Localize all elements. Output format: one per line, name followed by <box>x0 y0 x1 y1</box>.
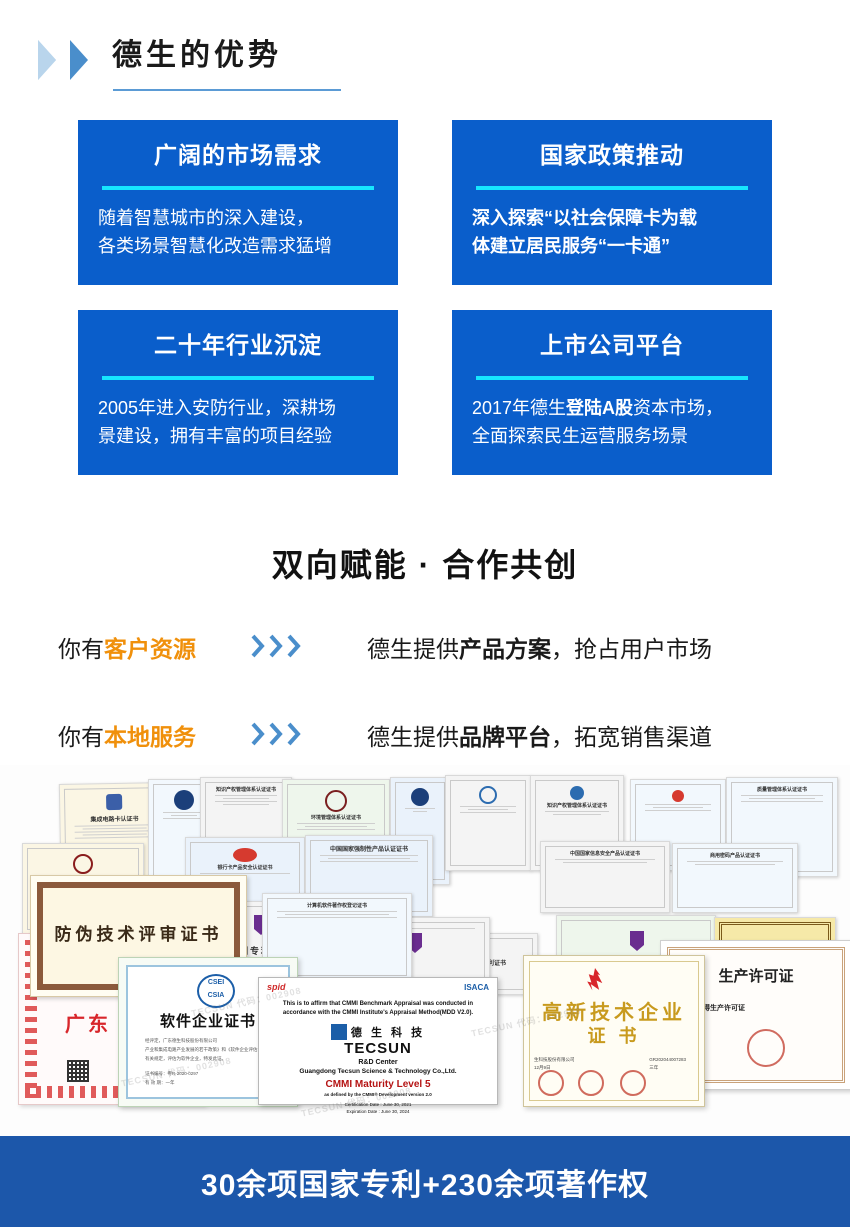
certificate-line: 有关规定，评估为软件企业，特发此证。 <box>145 1054 258 1063</box>
certificate-title: 质量管理体系认证证书 <box>735 786 829 793</box>
company-name-cn: 德 生 科 技 <box>351 1024 425 1040</box>
card-divider <box>476 376 748 380</box>
empower-left-text: 你有客户资源 <box>58 630 196 668</box>
certificate-thumb: 中国国家信息安全产品认证证书 <box>540 841 670 913</box>
cmmi-level: CMMI Maturity Level 5 <box>267 1079 489 1090</box>
certificate-title: 商用密码产品认证证书 <box>681 852 789 859</box>
certificate-hitech-enterprise: 高新技术企业 证 书 生科技股份有限公司 12月9日 GR20204400728… <box>523 955 705 1107</box>
certificate-collage: 集成电路卡认证书 知识产权管理体系认证证书 环境管理体系认证证书 <box>0 765 850 1137</box>
cmmi-affirm-line-2: accordance with the CMMI Institute's App… <box>267 1009 489 1018</box>
empower-right-bold: 产品方案 <box>459 636 551 662</box>
advantage-card-market: 广阔的市场需求 随着智慧城市的深入建设， 各类场景智慧化改造需求猛增 <box>78 120 398 285</box>
page-root: 德生的优势 广阔的市场需求 随着智慧城市的深入建设， 各类场景智慧化改造需求猛增… <box>0 0 850 1227</box>
certificate-title: 知识产权管理体系认证证书 <box>209 786 283 793</box>
empower-right-text: 德生提供品牌平台，拓宽销售渠道 <box>367 718 712 756</box>
footer-banner: 30余项国家专利+230余项著作权 <box>0 1136 850 1227</box>
card-body-line-2: 体建立居民服务“一卡通” <box>472 232 752 260</box>
title-underline <box>113 89 341 91</box>
cmmi-certification-date: Certification Date : June 30, 2021 <box>267 1101 489 1108</box>
csei-badge-icon: CSEI CSIA <box>197 974 235 1008</box>
certificate-line: 经评定，广东德生科技股份有限公司 <box>145 1036 258 1045</box>
empower-left-highlight: 客户资源 <box>104 636 196 662</box>
certificate-title: 计算机软件著作权登记证书 <box>271 902 403 909</box>
card-body-line-2: 景建设，拥有丰富的项目经验 <box>98 422 378 450</box>
isaca-logo: ISACA <box>464 983 489 992</box>
empower-right-bold: 品牌平台 <box>459 724 551 750</box>
page-title: 德生的优势 <box>112 32 282 80</box>
certificate-valid: 有 效 期：一年 <box>145 1078 258 1087</box>
card-body: 深入探索“以社会保障卡为载 体建立居民服务“一卡通” <box>472 204 752 260</box>
certificate-title: 防伪技术评审证书 <box>31 920 246 945</box>
card-divider <box>476 186 748 190</box>
empower-left-highlight: 本地服务 <box>104 724 196 750</box>
certificate-title: 中国国家强制性产品认证证书 <box>314 844 424 853</box>
chevron-right-icon <box>36 38 64 82</box>
card-title: 国家政策推动 <box>472 138 752 172</box>
arrow-group-icon <box>250 632 302 660</box>
empower-left-text: 你有本地服务 <box>58 718 196 756</box>
empower-row-list: 你有客户资源 德生提供产品方案，抢占用户市场 你有本地服务 德生提供品牌平台，拓… <box>0 630 850 776</box>
advantage-card-policy: 国家政策推动 深入探索“以社会保障卡为载 体建立居民服务“一卡通” <box>452 120 772 285</box>
card-body-line-1: 深入探索“以社会保障卡为载 <box>472 204 752 232</box>
card-divider <box>102 186 374 190</box>
empower-left-prefix: 你有 <box>58 636 104 662</box>
company-name-en: TECSUN <box>267 1041 489 1056</box>
certificate-title: 中国国家信息安全产品认证证书 <box>549 850 661 857</box>
empower-section-title: 双向赋能 · 合作共创 <box>0 540 850 586</box>
chevron-right-icon <box>250 632 266 660</box>
certificate-number: 证书编号：粤R-2020-0297 <box>145 1069 258 1078</box>
spid-logo: spid <box>267 982 286 992</box>
cmmi-defined-by: as defined by the CMMI® Development vers… <box>267 1092 489 1097</box>
certificate-title: 知识产权管理体系认证证书 <box>539 802 615 809</box>
cmmi-affirm-line-1: This is to affirm that CMMI Benchmark Ap… <box>267 1000 489 1009</box>
card-body-line-1: 随着智慧城市的深入建设， <box>98 204 378 232</box>
card-body-emphasis: 登陆A股 <box>566 398 633 418</box>
card-body-line-2: 各类场景智慧化改造需求猛增 <box>98 232 378 260</box>
card-title: 广阔的市场需求 <box>98 138 378 172</box>
advantage-card-experience: 二十年行业沉淀 2005年进入安防行业，深耕场 景建设，拥有丰富的项目经验 <box>78 310 398 475</box>
certificate-title: 广东 <box>65 1008 111 1037</box>
tecsun-logo: 德 生 科 技 <box>267 1024 489 1040</box>
empower-right-prefix: 德生提供 <box>367 636 459 662</box>
card-body: 2005年进入安防行业，深耕场 景建设，拥有丰富的项目经验 <box>98 394 378 450</box>
certificate-line: 产业和集成电路产业发展的若干政策》和《软件企业评估 <box>145 1045 258 1054</box>
empower-right-suffix: ，抢占用户市场 <box>551 636 712 662</box>
advantage-card-listed: 上市公司平台 2017年德生登陆A股资本市场， 全面探索民生运营服务场景 <box>452 310 772 475</box>
cmmi-legal-name: Guangdong Tecsun Science & Technology Co… <box>267 1068 489 1075</box>
chevron-right-icon <box>286 720 302 748</box>
empower-row-1: 你有客户资源 德生提供产品方案，抢占用户市场 <box>0 630 850 688</box>
empower-right-suffix: ，拓宽销售渠道 <box>551 724 712 750</box>
certificate-title: 高新技术企业 <box>524 996 704 1025</box>
card-body: 2017年德生登陆A股资本市场， 全面探索民生运营服务场景 <box>472 394 752 450</box>
arrow-group-icon <box>250 720 302 748</box>
certificate-title: 银行卡产品安全认证证书 <box>194 864 296 871</box>
card-body-text: 2017年德生 <box>472 398 566 418</box>
footer-text: 30余项国家专利+230余项著作权 <box>0 1136 850 1227</box>
certificate-subtitle: 证 书 <box>524 1022 704 1048</box>
certificate-valid: 三年 <box>649 1064 686 1072</box>
cmmi-expiration-date: Expiration Date : June 30, 2024 <box>267 1108 489 1115</box>
chevron-right-icon-2 <box>68 38 96 82</box>
empower-left-prefix: 你有 <box>58 724 104 750</box>
card-body-line-1: 2005年进入安防行业，深耕场 <box>98 394 378 422</box>
tecsun-mark-icon <box>331 1024 347 1040</box>
certificate-title: 环境管理体系认证证书 <box>291 814 381 821</box>
empower-right-prefix: 德生提供 <box>367 724 459 750</box>
card-body: 随着智慧城市的深入建设， 各类场景智慧化改造需求猛增 <box>98 204 378 260</box>
section-header: 德生的优势 <box>0 32 850 92</box>
chevron-right-icon <box>250 720 266 748</box>
empower-right-text: 德生提供产品方案，抢占用户市场 <box>367 630 712 668</box>
card-body-text-2: 资本市场， <box>633 398 723 418</box>
chevron-right-icon <box>268 720 284 748</box>
chevron-group-icon <box>36 38 96 82</box>
card-title: 上市公司平台 <box>472 328 752 362</box>
certificate-cmmi: spid ISACA This is to affirm that CMMI B… <box>258 977 498 1105</box>
card-divider <box>102 376 374 380</box>
card-title: 二十年行业沉淀 <box>98 328 378 362</box>
certificate-company: 生科技股份有限公司 <box>534 1056 575 1064</box>
chevron-right-icon <box>268 632 284 660</box>
cmmi-unit: R&D Center <box>267 1059 489 1066</box>
qr-code-icon <box>67 1060 89 1082</box>
certificate-title: 集成电路卡认证书 <box>68 813 160 824</box>
certificate-thumb: 商用密码产品认证证书 <box>672 843 798 913</box>
certificate-number: GR202044007283 <box>649 1056 686 1064</box>
card-body-line-1: 2017年德生登陆A股资本市场， <box>472 394 752 422</box>
certificate-thumb <box>445 775 531 871</box>
chevron-right-icon <box>286 632 302 660</box>
card-body-line-2: 全面探索民生运营服务场景 <box>472 422 752 450</box>
